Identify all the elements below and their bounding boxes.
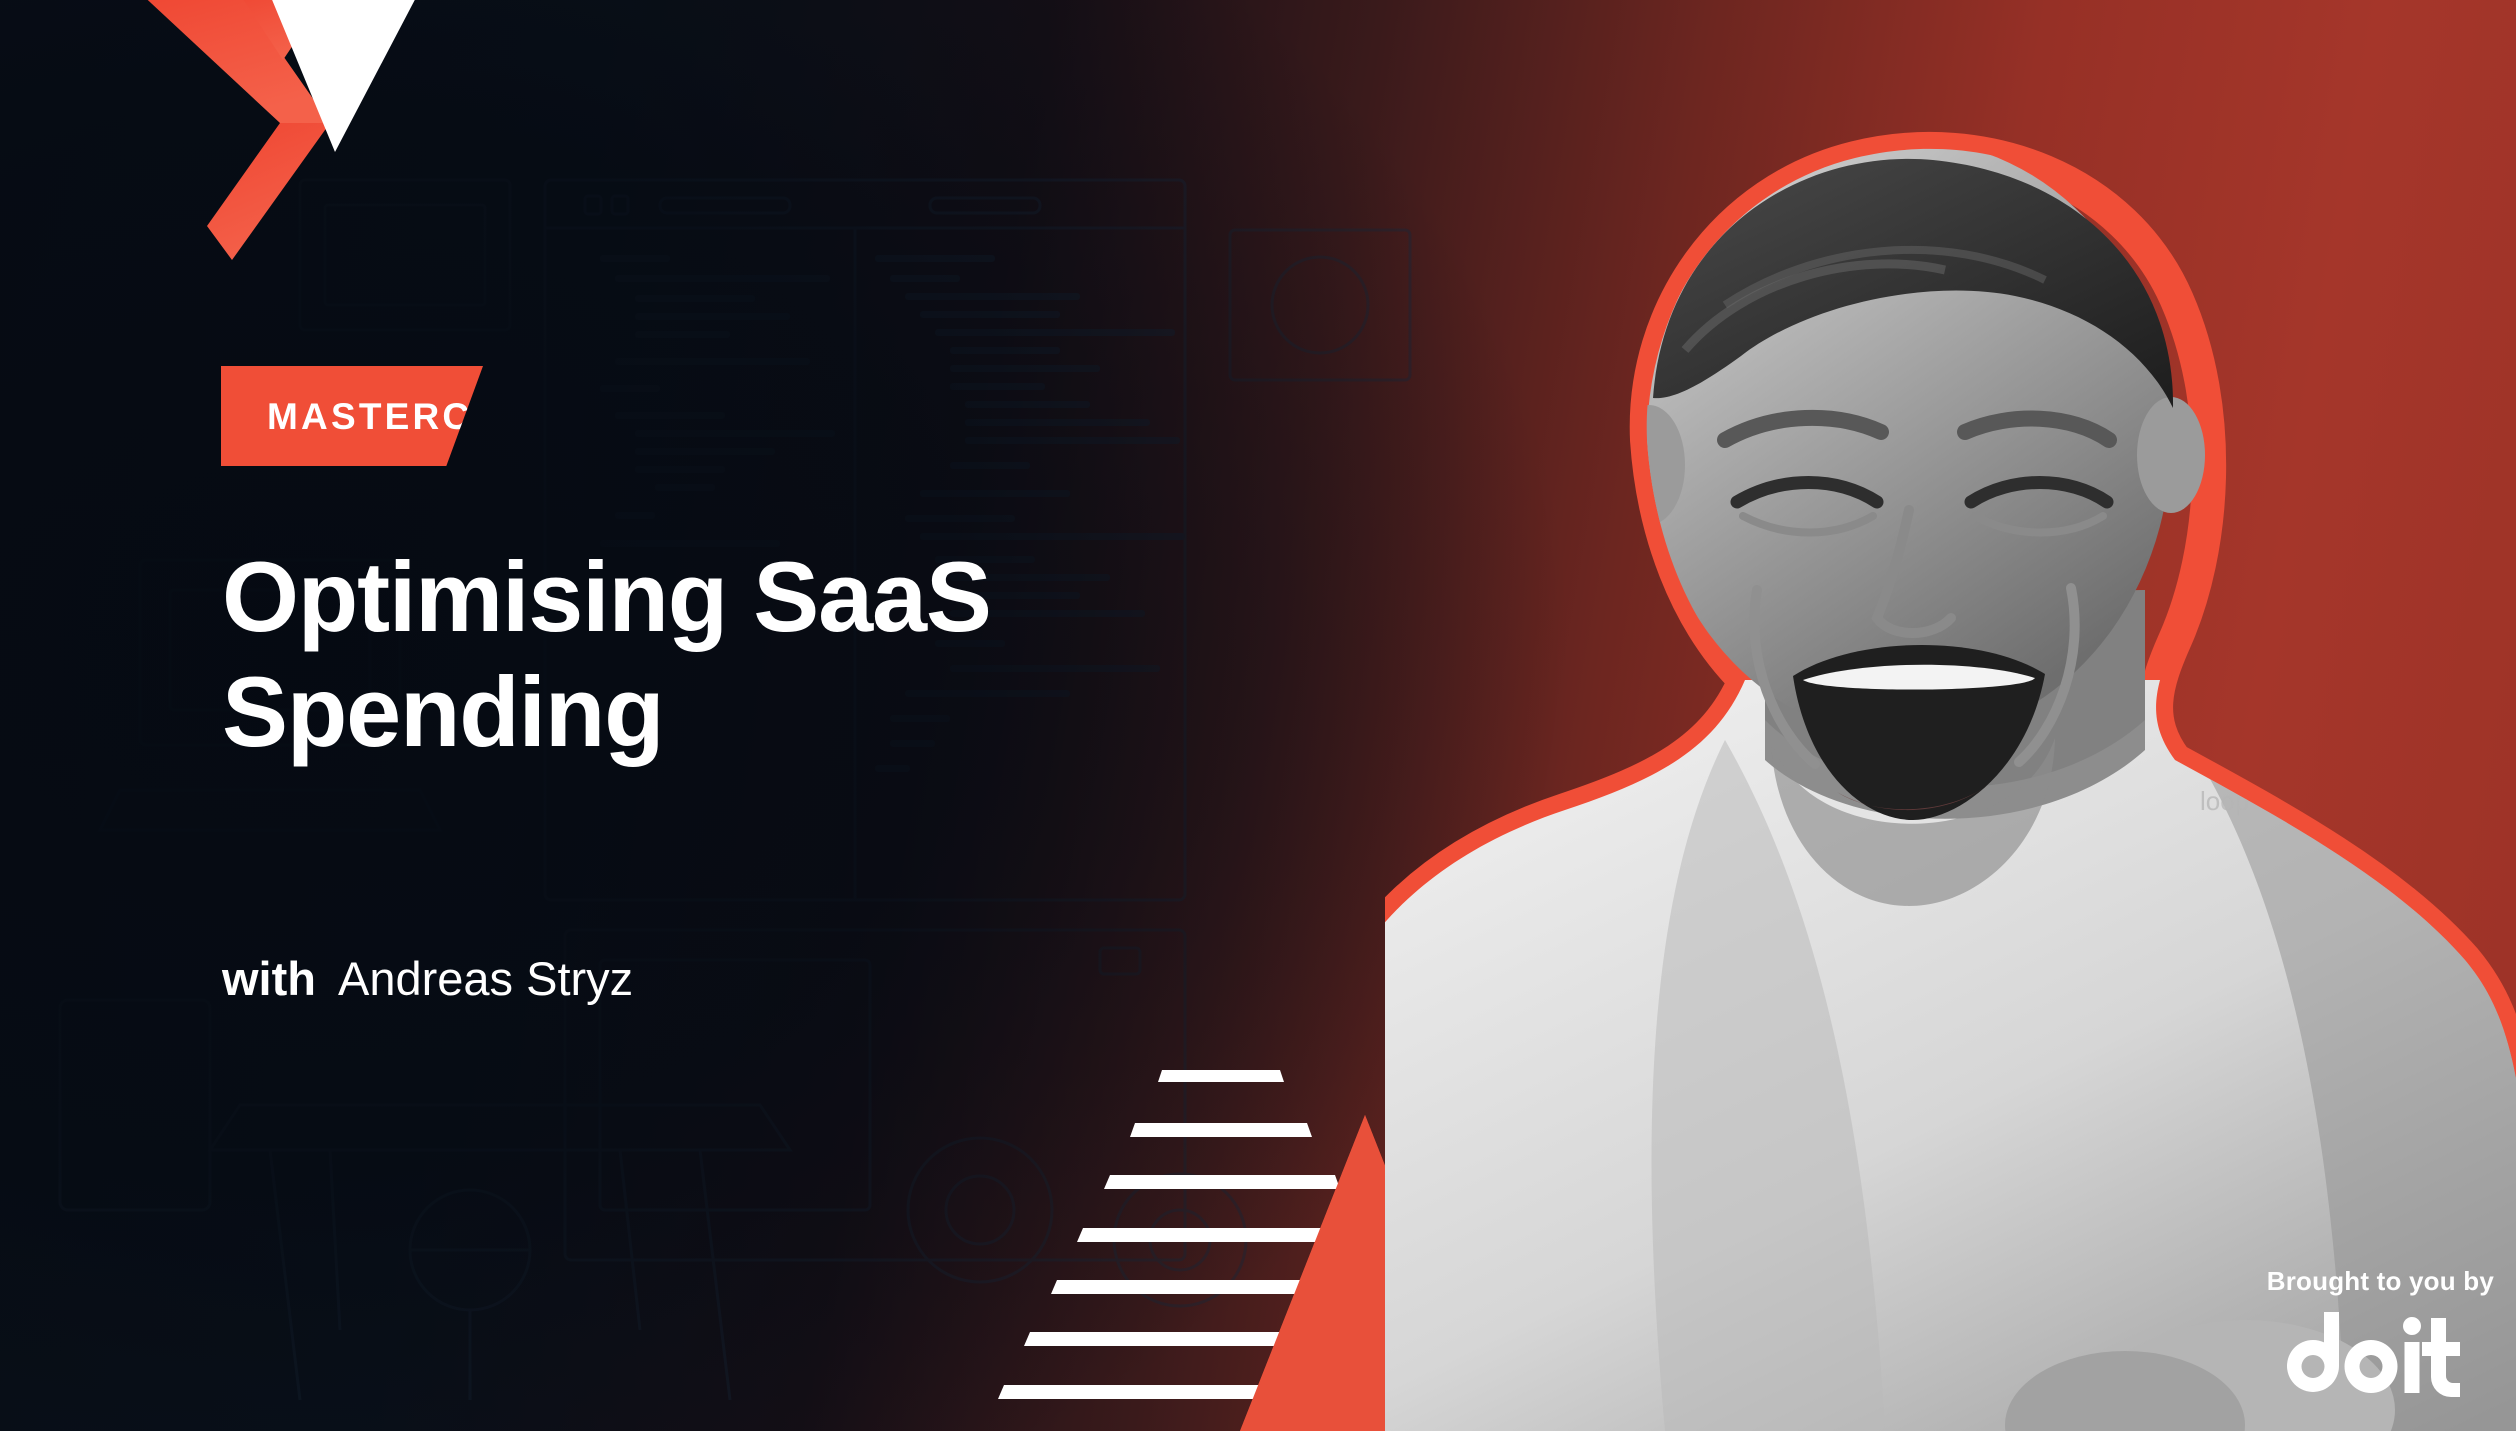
masterclass-promo-banner: loop MASTERCLASS Optimising SaaS Spendin… xyxy=(0,0,2516,1431)
presenter-name: Andreas Stryz xyxy=(316,952,633,1005)
title-line-2: Spending xyxy=(222,655,1222,770)
presenter-line: withAndreas Stryz xyxy=(222,955,633,1002)
sponsor-byline: Brought to you by xyxy=(2267,1268,2494,1294)
doit-logo-icon xyxy=(2266,1308,2466,1412)
title-line-1: Optimising SaaS xyxy=(222,540,1222,655)
masterclass-badge: MASTERCLASS xyxy=(221,366,483,466)
presenter-preposition: with xyxy=(222,952,316,1005)
page-title: Optimising SaaS Spending xyxy=(222,540,1222,770)
